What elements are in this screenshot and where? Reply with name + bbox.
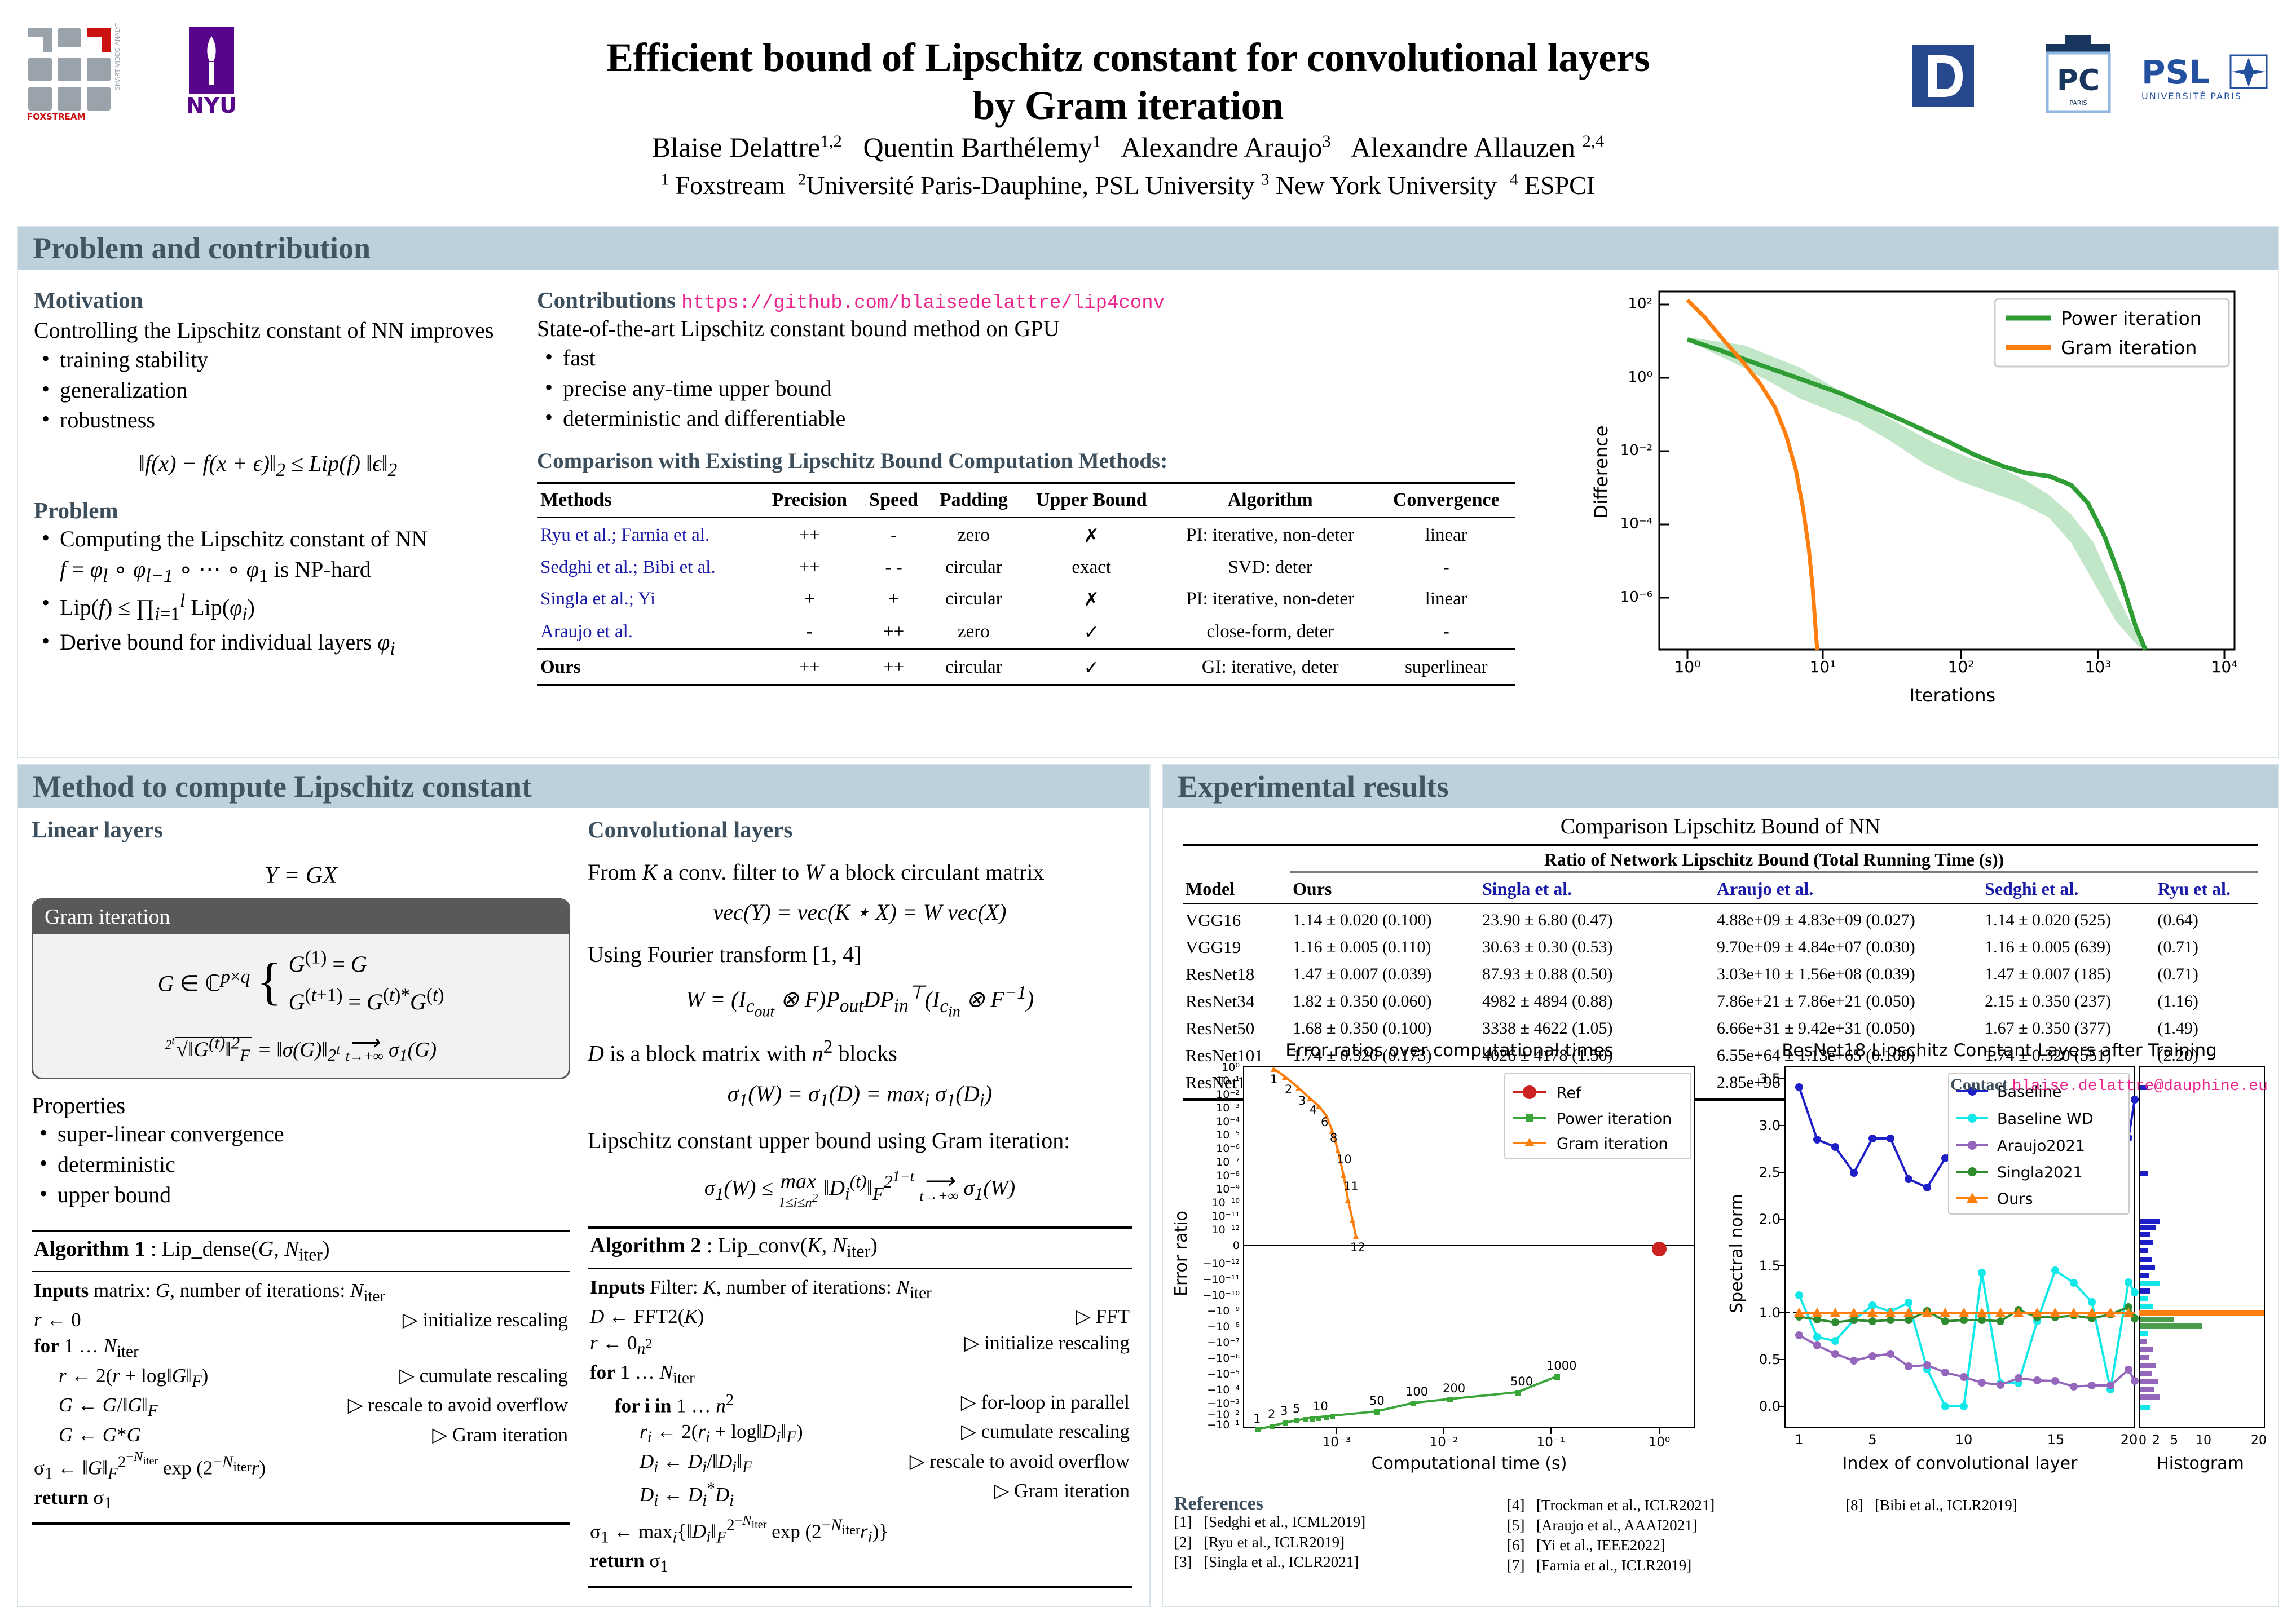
panel-experimental-results: Experimental results Comparison Lipschit…: [1162, 764, 2279, 1607]
cell-speed: ++: [860, 616, 928, 649]
convolutional-layers-column: Convolutional layers From K a conv. filt…: [588, 816, 1132, 1588]
contributions-heading: Contributions: [537, 287, 676, 313]
svg-text:2: 2: [2152, 1433, 2160, 1448]
col-speed: Speed: [860, 483, 928, 517]
legend-gram-iteration: Gram iteration: [2061, 337, 2197, 359]
cell-precision: ++: [759, 651, 860, 685]
problem-heading: Problem: [34, 497, 502, 524]
results-col-araujo: Araujo et al.: [1715, 872, 1982, 904]
svg-text:15: 15: [2047, 1432, 2065, 1448]
table-row: ResNet50 1.68 ± 0.350 (0.100) 3338 ± 462…: [1183, 1015, 2258, 1042]
ref-text: [Singla et al., ICLR2021]: [1204, 1552, 1359, 1573]
chart-legend: Power iteration Gram iteration: [1995, 299, 2229, 367]
gram-iteration-box: Gram iteration G ∈ ℂp×q { G(1) = G G(t+1…: [32, 898, 570, 1079]
cell-araujo: 7.86e+21 ± 7.86e+21 (0.050): [1715, 988, 1982, 1015]
cell-precision: +: [759, 583, 860, 616]
svg-text:0: 0: [1233, 1239, 1240, 1252]
svg-text:10³: 10³: [2085, 657, 2112, 676]
affiliation-list: 1 Foxstream 2Université Paris-Dauphine, …: [395, 169, 1861, 202]
contributions-subtitle: State-of-the-art Lipschitz constant boun…: [537, 314, 1546, 343]
cell-padding: circular: [928, 651, 1019, 685]
error-ratios-chart: Error ratios over computational times 10…: [1167, 1039, 1720, 1499]
results-col-singla: Singla et al.: [1480, 872, 1715, 904]
xlabel-computational-time: Computational time (s): [1372, 1454, 1567, 1473]
cell-model: VGG19: [1183, 934, 1290, 961]
svg-text:50: 50: [1369, 1394, 1385, 1407]
panel-title-method: Method to compute Lipschitz constant: [33, 769, 532, 804]
linear-layers-heading: Linear layers: [32, 816, 570, 843]
svg-text:10⁰: 10⁰: [1222, 1061, 1240, 1074]
dauphine-logo: [1912, 45, 2005, 107]
gram-def-1: G(1) = G: [289, 951, 367, 977]
panel-header-experimental: Experimental results: [1163, 765, 2278, 808]
table-row: Singla et al.; Yi + + circular ✗ PI: ite…: [537, 583, 1515, 616]
cell-method: Araujo et al.: [537, 616, 759, 649]
comparison-table: Methods Precision Speed Padding Upper Bo…: [537, 482, 1515, 686]
ref-number: [5]: [1507, 1516, 1536, 1536]
panel-header-problem: Problem and contribution: [18, 227, 2278, 270]
conv-line1: From K a conv. filter to W a block circu…: [588, 858, 1132, 886]
contact-label: Contact: [1950, 1075, 2008, 1094]
reference-item: [5] [Araujo et al., AAAI2021]: [1507, 1516, 1845, 1536]
svg-text:NYU: NYU: [186, 93, 237, 117]
page-title: Efficient bound of Lipschitz constant fo…: [395, 34, 1861, 130]
github-link[interactable]: https://github.com/blaisedelattre/lip4co…: [681, 293, 1165, 314]
cell-convergence: linear: [1377, 519, 1515, 552]
error-ratios-title: Error ratios over computational times: [1285, 1040, 1614, 1061]
legend-singla2021: Singla2021: [1997, 1164, 2083, 1181]
svg-text:FOXSTREAM: FOXSTREAM: [27, 112, 85, 121]
legend-ours: Ours: [1997, 1190, 2033, 1208]
cell-araujo: 3.03e+10 ± 1.56e+08 (0.039): [1715, 961, 1982, 988]
algo2-line-cumulate: ri ← 2(ri + log‖Di‖F)▷ cumulate rescalin…: [590, 1419, 1130, 1449]
svg-text:10⁻¹⁰: 10⁻¹⁰: [1212, 1197, 1240, 1209]
cell-singla: 3338 ± 4622 (1.05): [1480, 1015, 1715, 1042]
algorithm-2-title: Algorithm 2 : Lip_conv(K, Niter): [588, 1229, 1132, 1269]
foxstream-logo: SMART VIDEO ANALYTICS FOXSTREAM: [23, 23, 121, 121]
list-item: training stability: [34, 345, 502, 375]
svg-text:−10⁻⁵: −10⁻⁵: [1207, 1368, 1240, 1380]
motivation-text: Controlling the Lipschitz constant of NN…: [34, 316, 502, 345]
cell-araujo: 9.70e+09 ± 4.84e+07 (0.030): [1715, 934, 1982, 961]
col-methods: Methods: [537, 483, 759, 517]
svg-text:−10⁻⁹: −10⁻⁹: [1207, 1305, 1240, 1317]
poster-header: SMART VIDEO ANALYTICS FOXSTREAM NYU Effi…: [0, 0, 2296, 220]
algo2-inputs: Inputs Filter: K, number of iterations: …: [590, 1274, 1130, 1304]
gram-def-2: G(t+1) = G(t)*G(t): [289, 989, 444, 1014]
svg-text:1.0: 1.0: [1759, 1305, 1781, 1321]
svg-text:10⁻⁸: 10⁻⁸: [1216, 1170, 1240, 1182]
paris-cite-logo: PC PARIS: [2042, 34, 2115, 116]
contact-email[interactable]: blaise.delattre@dauphine.eu: [2012, 1078, 2268, 1095]
cell-model: ResNet34: [1183, 988, 1290, 1015]
cell-ryu: (0.71): [2155, 934, 2258, 961]
conv-heading: Convolutional layers: [588, 816, 1132, 843]
svg-text:1: 1: [1270, 1073, 1277, 1086]
svg-text:5: 5: [1293, 1402, 1300, 1415]
svg-text:500: 500: [1510, 1375, 1533, 1388]
cell-model: ResNet18: [1183, 961, 1290, 988]
ref-text: [Farnia et al., ICLR2019]: [1536, 1556, 1691, 1576]
results-col-ours: Ours: [1290, 872, 1480, 904]
cell-algorithm: close-form, deter: [1164, 616, 1377, 649]
algo1-line-rescale: G ← G/‖G‖F▷ rescale to avoid overflow: [34, 1392, 568, 1422]
cell-convergence: -: [1377, 552, 1515, 583]
cell-ours: 1.16 ± 0.005 (0.110): [1290, 934, 1480, 961]
table-row-ours: Ours ++ ++ circular ✓ GI: iterative, det…: [537, 651, 1515, 685]
panel-header-method: Method to compute Lipschitz constant: [18, 765, 1149, 808]
cell-ryu: (0.64): [2155, 907, 2258, 934]
ref-number: [7]: [1507, 1556, 1536, 1576]
conv-equation-2: W = (Icout ⊗ F)PoutDPin⊤(Icin ⊗ F−1): [588, 981, 1132, 1021]
svg-text:10⁻²: 10⁻²: [1620, 442, 1652, 459]
ref-point: [1652, 1242, 1667, 1256]
contact-line: Contact blaise.delattre@dauphine.eu: [1950, 1075, 2268, 1095]
references-col-2: [4] [Trockman et al., ICLR2021] [5] [Ara…: [1507, 1495, 1845, 1576]
legend-power-iteration: Power iteration: [1557, 1110, 1672, 1128]
legend-gram-iteration: Gram iteration: [1557, 1135, 1668, 1153]
list-item: Computing the Lipschitz constant of NN f…: [34, 524, 502, 589]
legend-ref: Ref: [1557, 1084, 1582, 1102]
algo2-line-gram: Di ← Di*Di▷ Gram iteration: [590, 1478, 1130, 1511]
linear-layers-column: Linear layers Y = GX Gram iteration G ∈ …: [32, 816, 570, 1525]
cell-sedghi: 1.47 ± 0.007 (185): [1982, 961, 2155, 988]
algorithm-1-title: Algorithm 1 : Lip_dense(G, Niter): [32, 1232, 570, 1272]
svg-text:11: 11: [1343, 1180, 1359, 1193]
table-row: Ryu et al.; Farnia et al. ++ - zero ✗ PI…: [537, 519, 1515, 552]
svg-text:1000: 1000: [1546, 1359, 1576, 1373]
xlabel-iterations: Iterations: [1910, 685, 1995, 706]
charts-row: Error ratios over computational times 10…: [1167, 1039, 2276, 1496]
algo1-inputs: Inputs matrix: G, number of iterations: …: [34, 1278, 568, 1308]
svg-text:10¹: 10¹: [1810, 657, 1836, 676]
algo1-line-gram: G ← G*G▷ Gram iteration: [34, 1422, 568, 1448]
algo2-line-init: r ← 0n2▷ initialize rescaling: [590, 1330, 1130, 1360]
svg-text:10²: 10²: [1628, 295, 1652, 312]
cell-araujo: 6.66e+31 ± 9.42e+31 (0.050): [1715, 1015, 1982, 1042]
ref-number: [3]: [1174, 1552, 1204, 1573]
cell-method: Singla et al.; Yi: [537, 583, 759, 616]
svg-text:10⁻⁴: 10⁻⁴: [1620, 515, 1652, 532]
algo2-line-for: for 1 … Niter: [590, 1360, 1130, 1389]
ylabel-difference: Difference: [1590, 426, 1612, 519]
svg-text:−10⁻⁴: −10⁻⁴: [1207, 1384, 1240, 1396]
algo2-line-forin: for i in 1 … n2▷ for-loop in parallel: [590, 1389, 1130, 1419]
ref-text: [Araujo et al., AAAI2021]: [1536, 1516, 1698, 1536]
svg-text:10: 10: [1313, 1400, 1328, 1413]
reference-item: [8] [Bibi et al., ICLR2019]: [1845, 1495, 2127, 1516]
contributions-column: Contributions https://github.com/blaised…: [537, 286, 1546, 686]
cell-method: Sedghi et al.; Bibi et al.: [537, 552, 759, 583]
cell-speed: +: [860, 583, 928, 616]
motivation-heading: Motivation: [34, 286, 502, 314]
algo1-line-sigma: σ1 ← ‖G‖F2−Niter exp (2−Niterr): [34, 1448, 568, 1485]
cell-singla: 23.90 ± 6.80 (0.47): [1480, 907, 1715, 934]
results-group-header: Ratio of Network Lipschitz Bound (Total …: [1290, 846, 2258, 872]
svg-text:10⁻³: 10⁻³: [1323, 1435, 1351, 1450]
svg-text:12: 12: [1350, 1241, 1365, 1254]
cell-singla: 87.93 ± 0.88 (0.50): [1480, 961, 1715, 988]
list-item: Lip(f) ≤ ∏i=1l Lip(φi): [34, 589, 502, 627]
resnet18-title: ResNet18 Lipschitz Constant Layers after…: [1782, 1040, 2217, 1061]
svg-text:10⁻²: 10⁻²: [1216, 1088, 1240, 1101]
table-row: Sedghi et al.; Bibi et al. ++ - - circul…: [537, 552, 1515, 583]
references-col-3: [8] [Bibi et al., ICLR2019]: [1845, 1495, 2127, 1516]
reference-item: [6] [Yi et al., IEEE2022]: [1507, 1535, 1845, 1556]
ref-text: [Trockman et al., ICLR2021]: [1536, 1495, 1715, 1516]
conv-equation-1: vec(Y) = vec(K ⋆ X) = W vec(X): [588, 899, 1132, 925]
chart-legend: Ref Power iteration Gram iteration: [1505, 1073, 1691, 1159]
svg-text:100: 100: [1405, 1385, 1428, 1398]
svg-text:10⁻³: 10⁻³: [1216, 1102, 1240, 1114]
ref-text: [Yi et al., IEEE2022]: [1536, 1535, 1665, 1556]
svg-text:2.0: 2.0: [1759, 1211, 1781, 1227]
cell-upper: exact: [1020, 552, 1164, 583]
psl-logo: PSL UNIVERSITÉ PARIS: [2140, 51, 2276, 104]
conv-equation-3: σ1(W) = σ1(D) = maxi σ1(Di): [588, 1080, 1132, 1111]
cell-method: Ryu et al.; Farnia et al.: [537, 519, 759, 552]
lipschitz-inequality: ‖f(x) − f(x + ϵ)‖2 ≤ Lip(f) ‖ϵ‖2: [34, 450, 502, 481]
list-item: super-linear convergence: [32, 1119, 570, 1149]
gram-domain: G ∈ ℂp×q: [158, 967, 250, 996]
reference-item: [4] [Trockman et al., ICLR2021]: [1507, 1495, 1845, 1516]
cell-upper: ✓: [1020, 651, 1164, 685]
conv-line2: Using Fourier transform [1, 4]: [588, 940, 1132, 969]
svg-text:3.0: 3.0: [1759, 1118, 1781, 1133]
svg-text:1: 1: [1795, 1432, 1803, 1448]
results-caption: Comparison Lipschitz Bound of NN: [1163, 814, 2278, 839]
svg-text:−10⁻⁶: −10⁻⁶: [1207, 1352, 1240, 1365]
svg-text:200: 200: [1443, 1382, 1465, 1395]
resnet18-chart: ResNet18 Lipschitz Constant Layers after…: [1723, 1039, 2276, 1499]
nyu-logo: NYU: [169, 27, 254, 117]
author-list: Blaise Delattre1,2 Quentin Barthélemy1 A…: [395, 130, 1861, 165]
panel-problem-contribution: Problem and contribution Motivation Cont…: [17, 226, 2279, 758]
svg-text:−10⁻¹²: −10⁻¹²: [1203, 1257, 1240, 1270]
cell-algorithm: GI: iterative, deter: [1164, 651, 1377, 685]
algo2-line-rescale: Di ← Di/‖Di‖F▷ rescale to avoid overflow: [590, 1449, 1130, 1479]
legend-baseline-wd: Baseline WD: [1997, 1110, 2094, 1128]
xlabel-layer-index: Index of convolutional layer: [1843, 1454, 2078, 1473]
svg-text:10⁻¹: 10⁻¹: [1537, 1435, 1566, 1450]
svg-text:10⁰: 10⁰: [1674, 657, 1701, 676]
cell-precision: ++: [759, 552, 860, 583]
cell-padding: zero: [928, 616, 1019, 649]
ref-text: [Bibi et al., ICLR2019]: [1875, 1495, 2017, 1516]
svg-text:−10⁻¹⁰: −10⁻¹⁰: [1203, 1289, 1240, 1301]
list-item: upper bound: [32, 1180, 570, 1210]
panel-title-problem: Problem and contribution: [33, 231, 371, 266]
svg-text:UNIVERSITÉ PARIS: UNIVERSITÉ PARIS: [2141, 91, 2242, 101]
col-padding: Padding: [928, 483, 1019, 517]
reference-item: [7] [Farnia et al., ICLR2019]: [1507, 1556, 1845, 1576]
svg-text:PARIS: PARIS: [2069, 99, 2087, 107]
svg-text:−10⁻³: −10⁻³: [1207, 1397, 1240, 1410]
cell-speed: ++: [860, 651, 928, 685]
ref-number: [2]: [1174, 1533, 1204, 1553]
cell-araujo: 4.88e+09 ± 4.83e+09 (0.027): [1715, 907, 1982, 934]
ref-number: [8]: [1845, 1495, 1875, 1516]
conv-equation-4: σ1(W) ≤ max 1≤i≤n2 ‖Di(t)‖F21−t ⟶ t→+∞ σ…: [588, 1167, 1132, 1210]
cell-algorithm: PI: iterative, non-deter: [1164, 519, 1377, 552]
list-item: generalization: [34, 375, 502, 405]
cell-singla: 30.63 ± 0.30 (0.53): [1480, 934, 1715, 961]
cell-ryu: (1.16): [2155, 988, 2258, 1015]
svg-text:10: 10: [1337, 1153, 1352, 1166]
algo2-line-sigma: σ1 ← maxi{‖Di‖F2−Niter exp (2−Niterri)}: [590, 1512, 1130, 1548]
col-algorithm: Algorithm: [1164, 483, 1377, 517]
svg-text:1: 1: [1253, 1412, 1261, 1426]
svg-text:5: 5: [2170, 1433, 2178, 1448]
cell-padding: circular: [928, 552, 1019, 583]
table-row: Araujo et al. - ++ zero ✓ close-form, de…: [537, 616, 1515, 649]
svg-text:10⁻⁶: 10⁻⁶: [1216, 1142, 1240, 1155]
svg-text:PSL: PSL: [2141, 53, 2210, 91]
list-item: fast: [537, 343, 1546, 373]
contributions-list: fast precise any-time upper bound determ…: [537, 343, 1546, 434]
algo1-line-for: for 1 … Niter: [34, 1333, 568, 1363]
cell-algorithm: PI: iterative, non-deter: [1164, 583, 1377, 616]
cell-upper: ✓: [1020, 616, 1164, 649]
algo1-line-cumulate: r ← 2(r + log‖G‖F)▷ cumulate rescaling: [34, 1363, 568, 1393]
svg-text:3.5: 3.5: [1759, 1071, 1781, 1087]
cell-upper: ✗: [1020, 583, 1164, 616]
list-item: precise any-time upper bound: [537, 373, 1546, 404]
motivation-column: Motivation Controlling the Lipschitz con…: [34, 286, 502, 662]
cell-ours: 1.14 ± 0.020 (0.100): [1290, 907, 1480, 934]
col-convergence: Convergence: [1377, 483, 1515, 517]
reference-item: [1] [Sedghi et al., ICML2019]: [1174, 1512, 1490, 1533]
algo2-line-return: return σ1: [590, 1548, 1130, 1578]
motivation-list: training stability generalization robust…: [34, 345, 502, 435]
list-item: deterministic and differentiable: [537, 403, 1546, 434]
legend-araujo2021: Araujo2021: [1997, 1137, 2085, 1155]
svg-text:2.5: 2.5: [1759, 1164, 1781, 1180]
results-model-header: Model: [1186, 879, 1235, 899]
cell-ryu: (1.49): [2155, 1015, 2258, 1042]
svg-text:3: 3: [1298, 1094, 1306, 1107]
ref-number: [4]: [1507, 1495, 1536, 1516]
cell-padding: zero: [928, 519, 1019, 552]
conv-line4: Lipschitz constant upper bound using Gra…: [588, 1126, 1132, 1155]
svg-text:1.5: 1.5: [1759, 1258, 1781, 1274]
cell-upper: ✗: [1020, 519, 1164, 552]
cell-padding: circular: [928, 583, 1019, 616]
cell-sedghi: 2.15 ± 0.350 (237): [1982, 988, 2155, 1015]
cell-model: VGG16: [1183, 907, 1290, 934]
svg-text:0: 0: [2139, 1433, 2147, 1448]
legend-power-iteration: Power iteration: [2061, 307, 2202, 329]
cell-singla: 4982 ± 4894 (0.88): [1480, 988, 1715, 1015]
ref-text: [Sedghi et al., ICML2019]: [1204, 1512, 1365, 1533]
svg-text:−10⁻¹: −10⁻¹: [1207, 1419, 1240, 1431]
cell-precision: -: [759, 616, 860, 649]
svg-text:3: 3: [1280, 1404, 1288, 1418]
xlabel-histogram: Histogram: [2156, 1454, 2244, 1473]
cell-sedghi: 1.14 ± 0.020 (525): [1982, 907, 2155, 934]
conv-line3: D is a block matrix with n2 blocks: [588, 1035, 1132, 1068]
svg-text:4: 4: [1310, 1103, 1317, 1116]
panel-method: Method to compute Lipschitz constant Lin…: [17, 764, 1151, 1607]
algorithm-2: Algorithm 2 : Lip_conv(K, Niter) Inputs …: [588, 1226, 1132, 1588]
panel-title-experimental: Experimental results: [1178, 769, 1448, 804]
svg-text:20: 20: [2251, 1433, 2267, 1448]
svg-text:PC: PC: [2057, 64, 2100, 98]
algo1-line-return: return σ1: [34, 1485, 568, 1515]
svg-text:2: 2: [1285, 1083, 1292, 1096]
svg-text:10⁴: 10⁴: [2211, 657, 2238, 676]
cell-ours: 1.68 ± 0.350 (0.100): [1290, 1015, 1480, 1042]
svg-text:8: 8: [1330, 1131, 1337, 1145]
cell-convergence: linear: [1377, 583, 1515, 616]
algorithm-1: Algorithm 1 : Lip_dense(G, Niter) Inputs…: [32, 1230, 570, 1524]
svg-text:0.5: 0.5: [1759, 1352, 1781, 1367]
svg-text:10⁰: 10⁰: [1628, 369, 1652, 386]
cell-ryu: (0.71): [2155, 961, 2258, 988]
poster-root: SMART VIDEO ANALYTICS FOXSTREAM NYU Effi…: [0, 0, 2296, 1624]
gram-box-title: Gram iteration: [33, 900, 569, 934]
col-upper-bound: Upper Bound: [1020, 483, 1164, 517]
svg-text:SMART VIDEO ANALYTICS: SMART VIDEO ANALYTICS: [114, 23, 121, 90]
results-col-sedghi: Sedghi et al.: [1982, 872, 2155, 904]
svg-text:10: 10: [1955, 1432, 1973, 1448]
svg-text:5: 5: [1868, 1432, 1876, 1448]
svg-text:−10⁻⁸: −10⁻⁸: [1207, 1321, 1240, 1333]
cell-ours: 1.82 ± 0.350 (0.060): [1290, 988, 1480, 1015]
algo2-line-fft: D ← FFT2(K)▷ FFT: [590, 1304, 1130, 1330]
ref-number: [6]: [1507, 1535, 1536, 1556]
list-item: robustness: [34, 405, 502, 435]
ref-number: [1]: [1174, 1512, 1204, 1533]
table-row: ResNet34 1.82 ± 0.350 (0.060) 4982 ± 489…: [1183, 988, 2258, 1015]
svg-text:−10⁻⁷: −10⁻⁷: [1207, 1336, 1240, 1349]
ylabel-error-ratio: Error ratio: [1171, 1211, 1191, 1296]
svg-text:10⁻²: 10⁻²: [1430, 1435, 1458, 1450]
algo1-line-init: r ← 0▷ initialize rescaling: [34, 1307, 568, 1333]
table-row: VGG16 1.14 ± 0.020 (0.100) 23.90 ± 6.80 …: [1183, 907, 2258, 934]
properties-heading: Properties: [32, 1092, 570, 1119]
svg-text:20: 20: [2121, 1432, 2138, 1448]
svg-text:10²: 10²: [1948, 657, 1975, 676]
properties-list: super-linear convergence deterministic u…: [32, 1119, 570, 1210]
references-block: References [1] [Sedghi et al., ICML2019]…: [1174, 1493, 2274, 1515]
svg-text:10⁻¹¹: 10⁻¹¹: [1212, 1210, 1240, 1223]
svg-text:10⁻⁶: 10⁻⁶: [1620, 589, 1652, 606]
convergence-chart: 10² 10⁰ 10⁻² 10⁻⁴ 10⁻⁶ 10⁰10¹ 10²1: [1575, 277, 2268, 723]
cell-precision: ++: [759, 519, 860, 552]
cell-sedghi: 1.16 ± 0.005 (639): [1982, 934, 2155, 961]
ref-text: [Ryu et al., ICLR2019]: [1204, 1533, 1345, 1553]
cell-convergence: -: [1377, 616, 1515, 649]
cell-convergence: superlinear: [1377, 651, 1515, 685]
svg-text:−10⁻¹¹: −10⁻¹¹: [1203, 1273, 1240, 1286]
svg-text:10⁻⁴: 10⁻⁴: [1216, 1115, 1240, 1128]
gram-limit-equation: 2t√‖G(t)‖2F = ‖σ(G)‖2t ⟶ t→+∞ σ1(G): [41, 1034, 561, 1066]
svg-text:10⁰: 10⁰: [1649, 1435, 1671, 1450]
list-item: deterministic: [32, 1149, 570, 1180]
cell-method: Ours: [537, 651, 759, 685]
svg-text:10: 10: [2196, 1433, 2211, 1448]
cell-algorithm: SVD: deter: [1164, 552, 1377, 583]
svg-text:10⁻⁹: 10⁻⁹: [1216, 1183, 1240, 1195]
table-row: ResNet18 1.47 ± 0.007 (0.039) 87.93 ± 0.…: [1183, 961, 2258, 988]
cell-model: ResNet50: [1183, 1015, 1290, 1042]
reference-item: [3] [Singla et al., ICLR2021]: [1174, 1552, 1490, 1573]
reference-item: [2] [Ryu et al., ICLR2019]: [1174, 1533, 1490, 1553]
ylabel-spectral-norm: Spectral norm: [1727, 1194, 1747, 1313]
table-row: VGG19 1.16 ± 0.005 (0.110) 30.63 ± 0.30 …: [1183, 934, 2258, 961]
svg-text:10⁻⁵: 10⁻⁵: [1216, 1129, 1240, 1141]
